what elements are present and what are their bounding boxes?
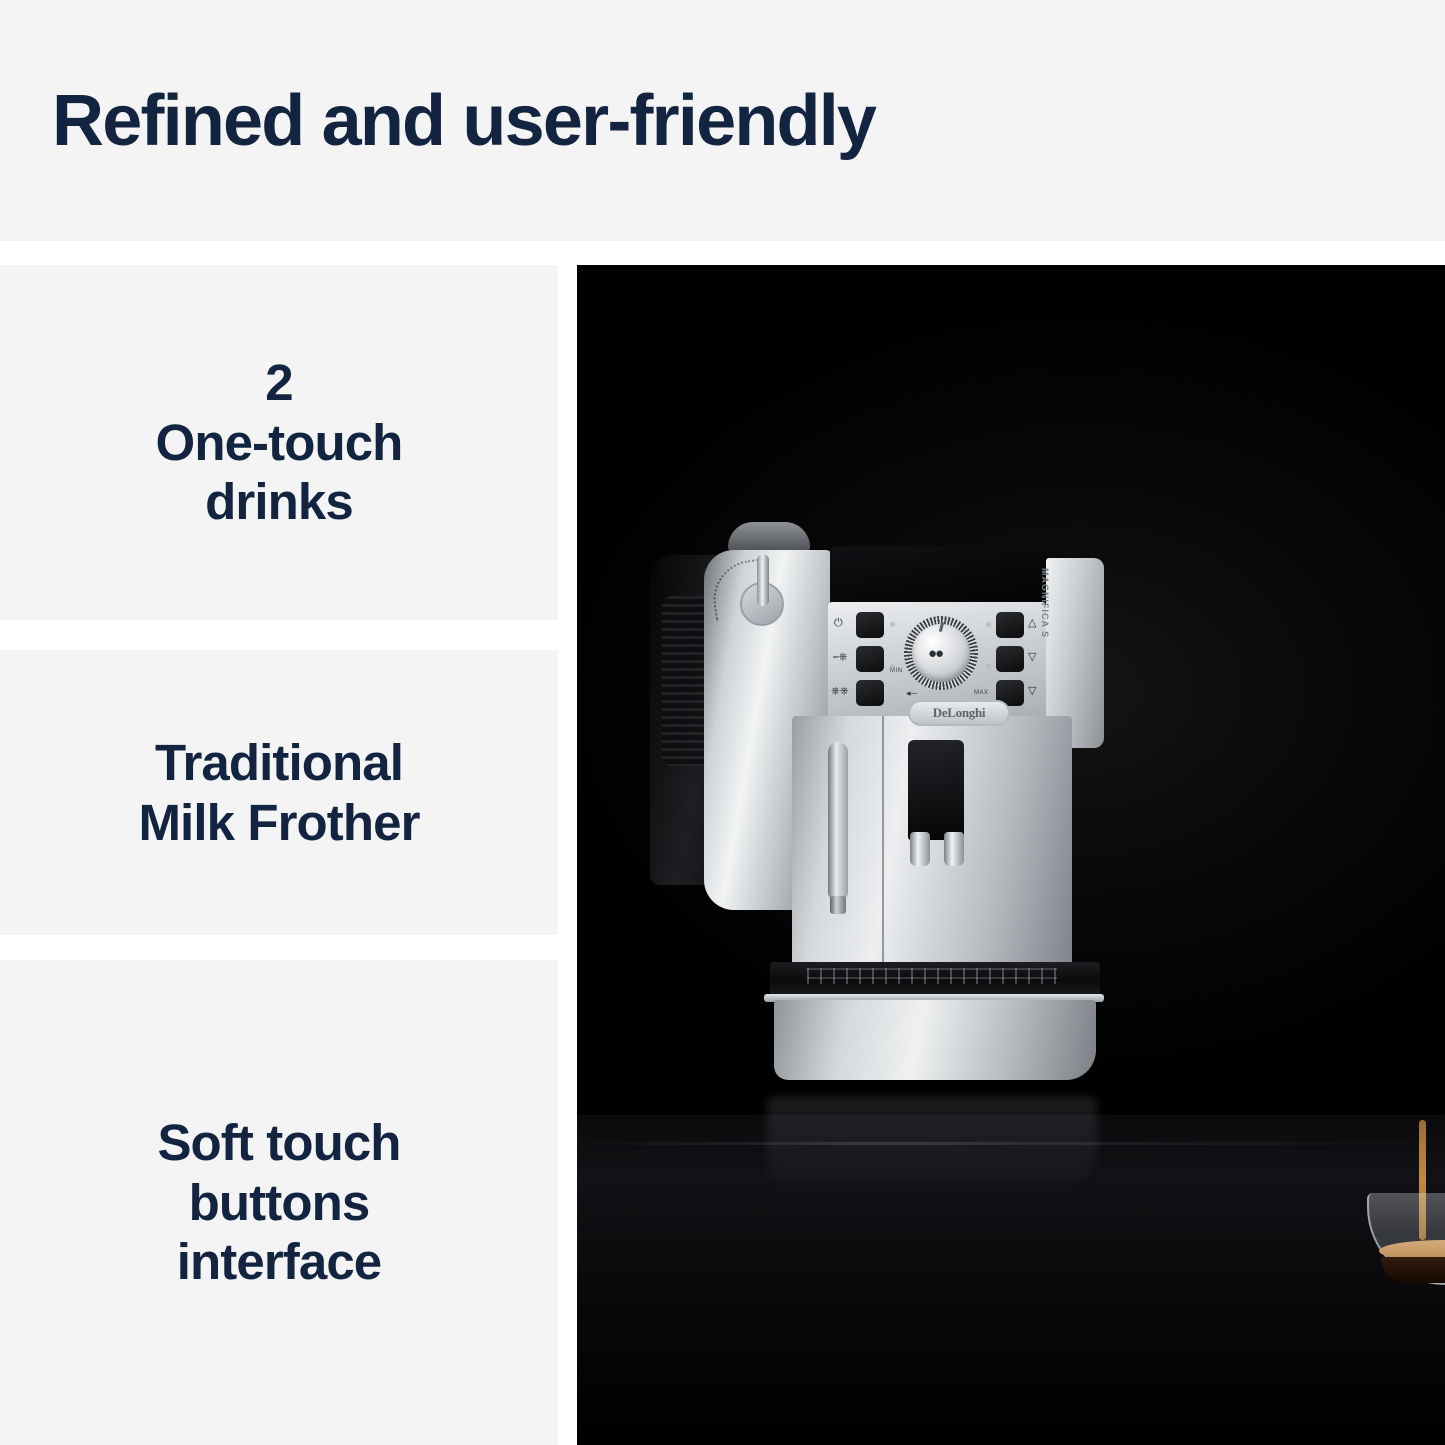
machine-model-label: MAGNIFICA S: [1040, 568, 1050, 638]
small-cup-button[interactable]: [996, 646, 1024, 672]
feature-count: 2: [265, 353, 292, 413]
machine-base: [774, 1000, 1096, 1080]
power-icon: ⏻: [834, 618, 843, 629]
double-cup-icon: ⎈⎈: [831, 686, 849, 697]
feature-label-line-2: Milk Frother: [98, 793, 459, 853]
coffee-bean-icon: ●●: [928, 646, 954, 660]
power-led: [890, 622, 895, 627]
feature-label-line-1: One-touch: [116, 413, 443, 473]
coffee-outlet-housing: [908, 740, 964, 840]
coffee-spout-right: [944, 832, 964, 866]
machine-front-seam: [882, 716, 884, 968]
feature-label-line-2: buttons: [149, 1173, 410, 1233]
feature-panel-soft-touch-buttons: Soft touch buttons interface DeLonghi: [0, 960, 558, 1445]
large-cup-icon: ▽: [1028, 686, 1036, 697]
feature-label-line-2: drinks: [165, 472, 393, 532]
espresso-machine: ⏻ ⎯⎈ ⎈⎈ ●● MIN MAX ◂─ ⚙ ▦: [632, 510, 1082, 1150]
feature-label-line-1: Traditional: [115, 733, 443, 793]
milk-frother-wand-tip: [830, 896, 846, 914]
feature-panel-milk-frother: Traditional Milk Frother: [0, 650, 558, 935]
ground-coffee-icon: ◂─: [906, 688, 917, 699]
milk-frother-wand[interactable]: [828, 742, 848, 902]
feature-label-line-1: Soft touch: [117, 1113, 440, 1173]
small-cup-led: [986, 664, 991, 669]
steam-button[interactable]: [996, 612, 1024, 638]
single-cup-button[interactable]: [856, 646, 884, 672]
product-photo: ⏻ ⎯⎈ ⎈⎈ ●● MIN MAX ◂─ ⚙ ▦: [577, 265, 1445, 1445]
machine-brand-badge: DeLonghi: [908, 700, 1010, 726]
header-band: Refined and user-friendly: [0, 0, 1445, 241]
product-feature-card: Refined and user-friendly 2 One-touch dr…: [0, 0, 1445, 1445]
page-title: Refined and user-friendly: [52, 85, 875, 157]
drip-tray-grid: [807, 968, 1057, 984]
power-button[interactable]: [856, 612, 884, 638]
coffee-spout-left: [910, 832, 930, 866]
machine-brand-badge-text: DeLonghi: [933, 705, 986, 721]
dial-min-label: MIN: [890, 668, 903, 674]
double-cup-button[interactable]: [856, 680, 884, 706]
feature-list: 2 One-touch drinks Traditional Milk Frot…: [0, 265, 558, 1445]
bean-hopper-lid: [728, 522, 810, 552]
small-cup-icon: ▽: [1028, 652, 1036, 663]
steam-icon: △: [1028, 618, 1036, 629]
steam-led: [986, 622, 991, 627]
feature-panel-one-touch-drinks: 2 One-touch drinks: [0, 265, 558, 620]
feature-label-line-3: interface: [137, 1232, 422, 1292]
steam-knob-lever[interactable]: [757, 554, 769, 606]
single-cup-icon: ⎯⎈: [833, 652, 847, 663]
dial-max-label: MAX: [974, 690, 989, 696]
